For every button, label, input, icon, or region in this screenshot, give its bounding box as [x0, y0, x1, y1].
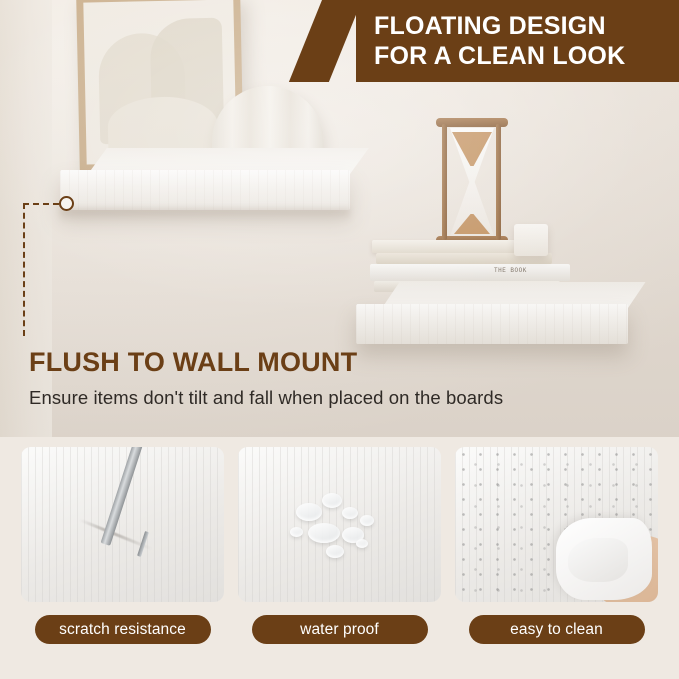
headline-block: FLUSH TO WALL MOUNT Ensure items don't t…	[29, 347, 649, 409]
water-droplet	[290, 527, 303, 537]
headline-title: FLUSH TO WALL MOUNT	[29, 347, 649, 378]
callout-marker-dot	[59, 196, 74, 211]
headline-subtitle: Ensure items don't tilt and fall when pl…	[29, 387, 649, 409]
water-droplet	[308, 523, 340, 543]
scratch-resistance-image	[21, 447, 224, 602]
water-droplet	[322, 493, 342, 508]
water-droplet	[326, 545, 344, 558]
product-infographic: THE BOOK FLOATING DESIGN FOR A CLEAN LOO…	[0, 0, 679, 679]
callout-leader-vertical	[23, 203, 25, 336]
easy-to-clean-image	[455, 447, 658, 602]
feature-cards: scratch resistance water proof	[21, 447, 658, 644]
water-droplet	[360, 515, 374, 526]
feature-label-scratch-resistance: scratch resistance	[35, 615, 211, 644]
water-proof-image	[238, 447, 441, 602]
feature-card-scratch-resistance: scratch resistance	[21, 447, 224, 644]
callout-leader-horizontal	[23, 203, 59, 205]
water-droplet	[356, 539, 368, 548]
feature-label-water-proof: water proof	[252, 615, 428, 644]
cleaning-cloth-fold	[568, 538, 628, 582]
shelf-surface-texture	[238, 447, 441, 602]
water-droplet	[296, 503, 322, 521]
floating-design-banner: FLOATING DESIGN FOR A CLEAN LOOK	[356, 0, 679, 82]
feature-card-easy-to-clean: easy to clean	[455, 447, 658, 644]
feature-label-easy-to-clean: easy to clean	[469, 615, 645, 644]
water-droplet	[342, 507, 358, 519]
feature-card-water-proof: water proof	[238, 447, 441, 644]
banner-headline: FLOATING DESIGN FOR A CLEAN LOOK	[374, 11, 625, 71]
shelf-surface-texture	[21, 447, 224, 602]
